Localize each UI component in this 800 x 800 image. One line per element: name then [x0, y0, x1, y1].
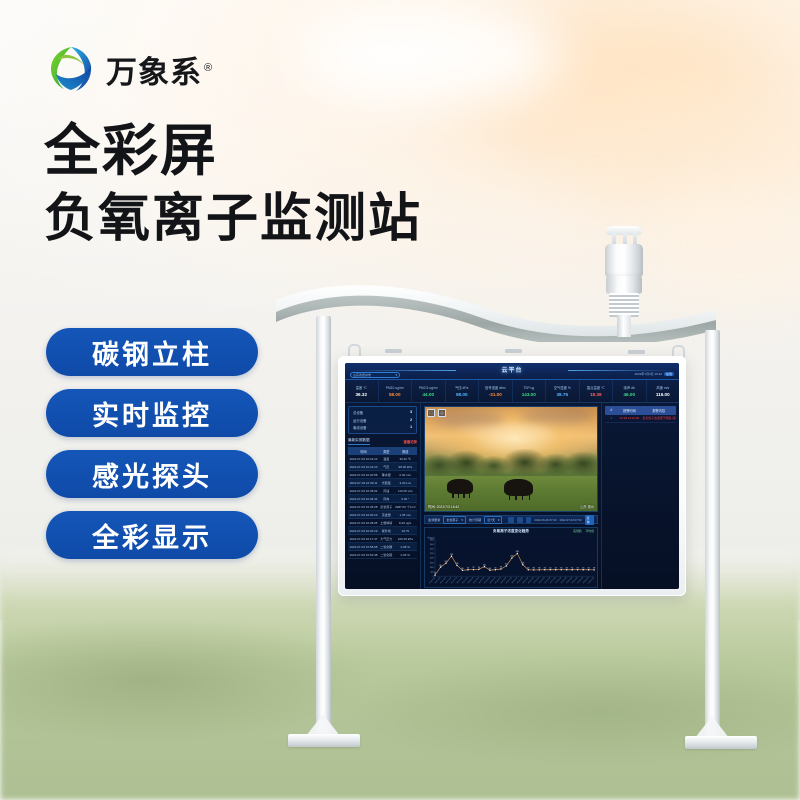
stat-row: 离线设备 1: [353, 425, 412, 430]
table-row[interactable]: 2022-07-03 15:52:38二氧化硫0.05 %: [348, 551, 417, 559]
metric-value: 98.00: [456, 392, 468, 397]
chart-toolbar: 监测要素 负氧离子 ▾ 统计周期 近7天 ▾: [424, 515, 598, 524]
table-col-value: 数值: [394, 447, 417, 455]
chart-point-label: 710: [549, 567, 551, 569]
cell-time: 2022-07-03 15:52:38: [348, 551, 379, 559]
video-controls[interactable]: ⛶ ◎: [427, 409, 446, 417]
header-datetime: 2022年7月3日 16:42: [635, 372, 662, 376]
video-cloud: [520, 409, 592, 424]
cell-type: 大气压力: [379, 535, 394, 543]
chart-element-select-value: 负氧离子: [446, 518, 458, 522]
chart-point-label: 2180: [450, 554, 453, 556]
dashboard-body: 总设备 3 运行设备 2 离线设备 1 最新实测数据: [345, 403, 679, 589]
trademark-symbol: ®: [204, 62, 213, 74]
metric-strip: 温度 ℃ 36.32 PM10 ug/m³ 58.00 PM2.5 ug/m³ …: [345, 380, 679, 403]
table-body: 2022-07-03 16:42:10温度36.32 ℃2022-07-03 1…: [348, 455, 417, 559]
data-table-caption: 最新实测数据: [348, 438, 370, 445]
stat-value: 3: [410, 410, 412, 415]
cell-time: 2022-07-03 16:40:58: [348, 471, 379, 479]
svg-text:3500: 3500: [430, 544, 434, 546]
chart-period-select[interactable]: 近7天 ▾: [484, 516, 502, 524]
metric-label: 风速 m/s: [656, 385, 669, 390]
chart-filter-label-element: 监测要素: [428, 517, 440, 522]
svg-text:2000: 2000: [430, 558, 434, 560]
stat-value: 2: [410, 418, 412, 423]
cell-time: 2022-07-03 16:39:11: [348, 479, 379, 487]
stat-label: 总设备: [353, 410, 363, 415]
metric-dew-point: 露点温度 ℃ 18.38: [580, 380, 614, 402]
cell-time: 2022-07-03 16:17:47: [348, 535, 379, 543]
chart-point-label: 700: [555, 567, 557, 569]
site-select[interactable]: 山东省德州市 ▾: [350, 372, 400, 378]
cell-value: 100.28 kPa: [394, 535, 417, 543]
metric-label: PM2.5 ug/m³: [419, 386, 438, 390]
cell-type: 降水量: [379, 471, 394, 479]
svg-text:1000: 1000: [430, 567, 434, 569]
table-col-type: 类型: [379, 447, 394, 455]
stat-row: 运行设备 2: [353, 418, 412, 423]
metric-temperature: 温度 ℃ 36.32: [345, 380, 379, 402]
cell-type: 土壤墒情: [379, 519, 394, 527]
brand-logo: 万象系®: [46, 44, 213, 94]
video-watermark: 山东 德州: [580, 504, 594, 509]
video-cattle: [504, 479, 533, 497]
chart-title: 负氧离子浓度变化趋势: [493, 529, 529, 534]
stat-row: 总设备 3: [353, 410, 412, 415]
product-banner: 万象系® 全彩屏 负氧离子监测站 碳钢立柱 实时监控 感光探头 全彩显示: [0, 0, 800, 800]
feature-badge-full-color-display[interactable]: 全彩显示: [46, 511, 258, 559]
alarm-col-time: 报警时间: [617, 406, 641, 415]
metric-value: 44.00: [423, 392, 435, 397]
header-decoration-left: [351, 370, 456, 371]
feature-badge-carbon-steel-post[interactable]: 碳钢立柱: [46, 328, 258, 376]
table-row[interactable]: 2022-07-03 16:20:19紫外线18.75: [348, 527, 417, 535]
chevron-down-icon: ▾: [498, 518, 500, 522]
stat-label: 运行设备: [353, 418, 367, 423]
metric-value: 143.00: [522, 392, 536, 397]
chart-element-select[interactable]: 负氧离子 ▾: [443, 516, 466, 524]
post-base-cone-left: [306, 714, 340, 736]
table-row[interactable]: 2022-07-03 16:30:13蒸发量1.05 mm: [348, 511, 417, 519]
cell-time: 2022-07-03 16:42:10: [348, 455, 379, 463]
chart-period-select-value: 近7天: [487, 518, 495, 522]
metric-value: -31.00: [489, 392, 502, 397]
stat-value: 1: [410, 425, 412, 430]
headline-line-1: 全彩屏: [44, 122, 422, 179]
svg-text:3000: 3000: [430, 549, 434, 551]
chart-point-label: 705: [560, 567, 562, 569]
chart-point-label: 700: [544, 567, 546, 569]
table-row[interactable]: 2022-07-03 16:42:10气压98.00 kPa: [348, 463, 417, 471]
metric-pm25: PM2.5 ug/m³ 44.00: [412, 380, 446, 402]
alarm-index: 1: [605, 415, 617, 423]
chart-point-label: 660: [489, 568, 491, 570]
post-base-cone-right: [695, 716, 729, 738]
cell-value: 116.00 m/s: [394, 487, 417, 495]
svg-text:0: 0: [433, 576, 434, 578]
metric-label: 温度 ℃: [356, 385, 367, 390]
cell-value: 36.32 ℃: [394, 455, 417, 463]
chart-point-label: 720: [472, 567, 474, 569]
data-table-caption-row: 最新实测数据 查看记录: [348, 438, 417, 445]
table-row[interactable]: 2022-07-03 16:39:11光照度3.00 Lux: [348, 479, 417, 487]
live-video-feed[interactable]: ⛶ ◎ 时间: 2022/7/3 16:42 山东 德州: [424, 406, 598, 512]
trend-chart: 负氧离子浓度变化趋势 实测值 平均值 个/cm³ 050010001500200…: [424, 527, 598, 588]
sensor-mount-stem: [617, 315, 631, 337]
table-row[interactable]: 2022-07-03 16:40:58降水量0.00 mm: [348, 471, 417, 479]
chart-point-label: 780: [500, 567, 502, 569]
screen-mount-tab: [628, 350, 645, 354]
header-decoration-right: [568, 370, 673, 371]
cell-time: 2022-07-03 16:30:13: [348, 511, 379, 519]
brand-name: 万象系®: [106, 47, 213, 92]
sensor-upper-body: [605, 244, 643, 278]
chart-point-label: 700: [494, 567, 496, 569]
chart-point-label: 700: [566, 567, 568, 569]
globe-sphere-icon: [46, 44, 96, 94]
dashboard-center-panel: ⛶ ◎ 时间: 2022/7/3 16:42 山东 德州 监测要素 负氧离子 ▾…: [421, 403, 601, 589]
chart-legend: 实测值 平均值: [573, 529, 594, 533]
feature-badge-list: 碳钢立柱 实时监控 感光探头 全彩显示: [46, 328, 258, 559]
sensor-lower-body: [606, 276, 642, 294]
table-row[interactable]: 2022-07-03 15:36:28负氧离子3287.00 个/cm³: [348, 503, 417, 511]
video-timestamp: 时间: 2022/7/3 16:42: [428, 504, 459, 509]
chart-point-label: 700: [467, 567, 469, 569]
screen-mount-tab: [385, 349, 402, 353]
video-cloud: [459, 426, 554, 436]
headline-line-2: 负氧离子监测站: [44, 193, 422, 246]
feature-badge-light-sensor-probe[interactable]: 感光探头: [46, 450, 258, 498]
chart-point-label: 760: [478, 567, 480, 569]
metric-signal-strength: 信号强度 dbm -31.00: [479, 380, 513, 402]
device-stats-box: 总设备 3 运行设备 2 离线设备 1: [348, 406, 417, 434]
cell-value: 3287.00 个/cm³: [394, 503, 417, 511]
table-icon[interactable]: [526, 517, 532, 523]
chart-filter-label-period: 统计周期: [469, 517, 481, 522]
table-row[interactable]: 2022-07-03 16:28:05土壤墒情8.40 ug/L: [348, 519, 417, 527]
table-row[interactable]: 2022-07-03 16:36:44风向0.00 °: [348, 495, 417, 503]
dashboard-left-panel: 总设备 3 运行设备 2 离线设备 1 最新实测数据: [345, 403, 421, 589]
metric-label: 空气湿度 %: [554, 385, 571, 390]
metric-value: 46.00: [624, 392, 636, 397]
cell-time: 2022-07-03 16:42:10: [348, 463, 379, 471]
cell-type: 气压: [379, 463, 394, 471]
chart-plot-area: 05001000150020002500300035004000 12006-2…: [425, 537, 597, 587]
carbon-steel-post-left: [316, 316, 331, 736]
chart-point-label: 2480: [516, 551, 519, 553]
chart-point-label: 700: [588, 567, 590, 569]
chart-point-label: 1120: [505, 563, 508, 565]
carbon-steel-post-right: [705, 330, 720, 738]
chevron-down-icon: ▾: [395, 373, 397, 377]
latest-readings-table: 时间 类型 数值 2022-07-03 16:42:10温度36.32 ℃202…: [348, 447, 417, 559]
chart-point-label: 1260: [521, 562, 524, 564]
chevron-down-icon: ▾: [461, 518, 463, 522]
stat-label: 离线设备: [353, 425, 367, 430]
alarm-col-index: #: [605, 406, 617, 415]
chart-point-label: 700: [571, 567, 573, 569]
dashboard-header: 云平台 山东省德州市 ▾ 2022年7月3日 16:42 在线: [345, 363, 679, 380]
flange-base-plate-right: [685, 736, 757, 749]
site-select-value: 山东省德州市: [353, 373, 371, 377]
bar-chart-icon[interactable]: [508, 517, 514, 523]
cell-value: 3.00 Lux: [394, 479, 417, 487]
alarm-content: 负氧离子浓度低于阈值,请注意查看: [642, 415, 677, 423]
cell-value: 8.40 ug/L: [394, 519, 417, 527]
wave-canopy: [272, 284, 720, 342]
ultrasonic-weather-sensor: [602, 226, 646, 332]
metric-value: 116.00: [656, 392, 670, 397]
svg-text:500: 500: [431, 571, 434, 573]
chart-point-label: 690: [593, 567, 595, 569]
cell-type: 风速: [379, 487, 394, 495]
legend-item-measured: 实测值: [573, 529, 581, 533]
cell-time: 2022-07-03 16:28:05: [348, 519, 379, 527]
feature-badge-realtime-monitoring[interactable]: 实时监控: [46, 389, 258, 437]
cell-value: 1.05 mm: [394, 511, 417, 519]
header-status: 2022年7月3日 16:42 在线: [635, 372, 674, 376]
cell-type: 风向: [379, 495, 394, 503]
legend-item-average: 平均值: [586, 529, 594, 533]
brand-name-text: 万象系: [106, 55, 202, 90]
metric-value: 38.75: [557, 392, 569, 397]
page-title: 全彩屏 负氧离子监测站: [44, 122, 422, 246]
metric-value: 58.00: [389, 392, 401, 397]
metric-noise: 噪声 db 46.00: [613, 380, 647, 402]
video-cattle: [447, 479, 473, 495]
cell-time: 2022-07-03 15:36:28: [348, 503, 379, 511]
cell-time: 2022-07-03 16:36:44: [348, 495, 379, 503]
alarm-col-content: 报警内容: [642, 406, 677, 415]
table-row[interactable]: 2022-07-03 16:42:10温度36.32 ℃: [348, 455, 417, 463]
cell-time: 2022-07-03 16:38:02: [348, 487, 379, 495]
metric-pm10: PM10 ug/m³ 58.00: [379, 380, 413, 402]
cell-type: 温度: [379, 455, 394, 463]
cell-value: 0.00 °: [394, 495, 417, 503]
cloud-shape: [300, 0, 560, 110]
fullscreen-icon[interactable]: ⛶: [427, 409, 435, 417]
flange-base-plate-left: [288, 734, 360, 747]
dashboard-right-panel: # 报警时间 报警内容 107-03 14:21:06负氧离子浓度低于阈值,请注…: [601, 403, 679, 589]
dashboard-screen[interactable]: 云平台 山东省德州市 ▾ 2022年7月3日 16:42 在线 温度 ℃ 36.…: [345, 363, 679, 589]
alarm-table-body: 107-03 14:21:06负氧离子浓度低于阈值,请注意查看: [605, 415, 676, 424]
cell-type: 负氧离子: [379, 503, 394, 511]
metric-label: 噪声 db: [624, 385, 635, 390]
cell-time: 2022-07-03 16:20:19: [348, 527, 379, 535]
cell-type: 二氧化碳: [379, 543, 394, 551]
cell-time: 2022-07-03 15:58:08: [348, 543, 379, 551]
dashboard-title: 云平台: [501, 365, 522, 374]
svg-text:1500: 1500: [430, 562, 434, 564]
metric-label: 气压 kPa: [455, 385, 468, 390]
chart-point-label: 680: [533, 568, 535, 570]
metric-wind-speed: 风速 m/s 116.00: [647, 380, 680, 402]
cell-value: 0.05 %: [394, 551, 417, 559]
chart-point-label: 690: [538, 567, 540, 569]
table-header-row: 时间 类型 数值: [348, 447, 417, 455]
metric-humidity: 空气湿度 % 38.75: [546, 380, 580, 402]
table-row[interactable]: 2022-07-03 16:38:02风速116.00 m/s: [348, 487, 417, 495]
chart-point-label: 705: [577, 567, 579, 569]
cell-value: 0.00 mm: [394, 471, 417, 479]
chart-point-label: 120: [434, 573, 436, 575]
query-button[interactable]: 查询: [585, 515, 594, 525]
table-col-time: 时间: [348, 447, 379, 455]
chart-point-label: 700: [527, 567, 529, 569]
metric-value: 36.32: [356, 392, 368, 397]
radiation-shield-fins: [609, 293, 639, 317]
alarm-time: 07-03 14:21:06: [617, 415, 641, 423]
line-chart-icon[interactable]: [517, 517, 523, 523]
svg-text:2500: 2500: [430, 553, 434, 555]
alarm-row[interactable]: 107-03 14:21:06负氧离子浓度低于阈值,请注意查看: [605, 415, 676, 424]
cell-type: 蒸发量: [379, 511, 394, 519]
chart-point-label: 980: [439, 565, 441, 567]
chart-x-tick-label: 07-03 13:00: [588, 577, 595, 584]
chart-point-label: 1180: [456, 563, 459, 565]
svg-text:4000: 4000: [430, 539, 434, 541]
metric-tsp: TSP ug 143.00: [513, 380, 547, 402]
status-badge: 在线: [664, 372, 674, 376]
cell-type: 二氧化硫: [379, 551, 394, 559]
date-range-to[interactable]: 2022-07-03 07:00: [559, 518, 581, 522]
alarm-table-header: # 报警时间 报警内容: [605, 406, 676, 415]
table-row[interactable]: 2022-07-03 16:17:47大气压力100.28 kPa: [348, 535, 417, 543]
date-range-from[interactable]: 2022-06-26 07:00: [534, 518, 556, 522]
metric-label: 信号强度 dbm: [485, 385, 506, 390]
chart-point-label: 640: [461, 568, 463, 570]
metric-label: 露点温度 ℃: [587, 385, 605, 390]
cell-type: 紫外线: [379, 527, 394, 535]
screen-mount-tab: [505, 349, 522, 353]
snapshot-icon[interactable]: ◎: [438, 409, 446, 417]
cell-value: 0.08 %: [394, 543, 417, 551]
chart-point-label: 1040: [483, 564, 486, 566]
chart-point-label: 1420: [444, 561, 447, 563]
metric-value: 18.38: [590, 392, 602, 397]
metric-pressure: 气压 kPa 98.00: [446, 380, 480, 402]
chart-point-label: 700: [582, 567, 584, 569]
metric-label: TSP ug: [523, 386, 534, 390]
chart-point-label: 1980: [510, 556, 513, 558]
table-row[interactable]: 2022-07-03 15:58:08二氧化碳0.08 %: [348, 543, 417, 551]
video-frame-image: [425, 407, 597, 511]
metric-label: PM10 ug/m³: [386, 386, 404, 390]
cell-value: 18.75: [394, 527, 417, 535]
cell-value: 98.00 kPa: [394, 463, 417, 471]
video-treeline: [425, 449, 597, 476]
cell-type: 光照度: [379, 479, 394, 487]
alarm-record-link[interactable]: 查看记录: [403, 439, 417, 444]
